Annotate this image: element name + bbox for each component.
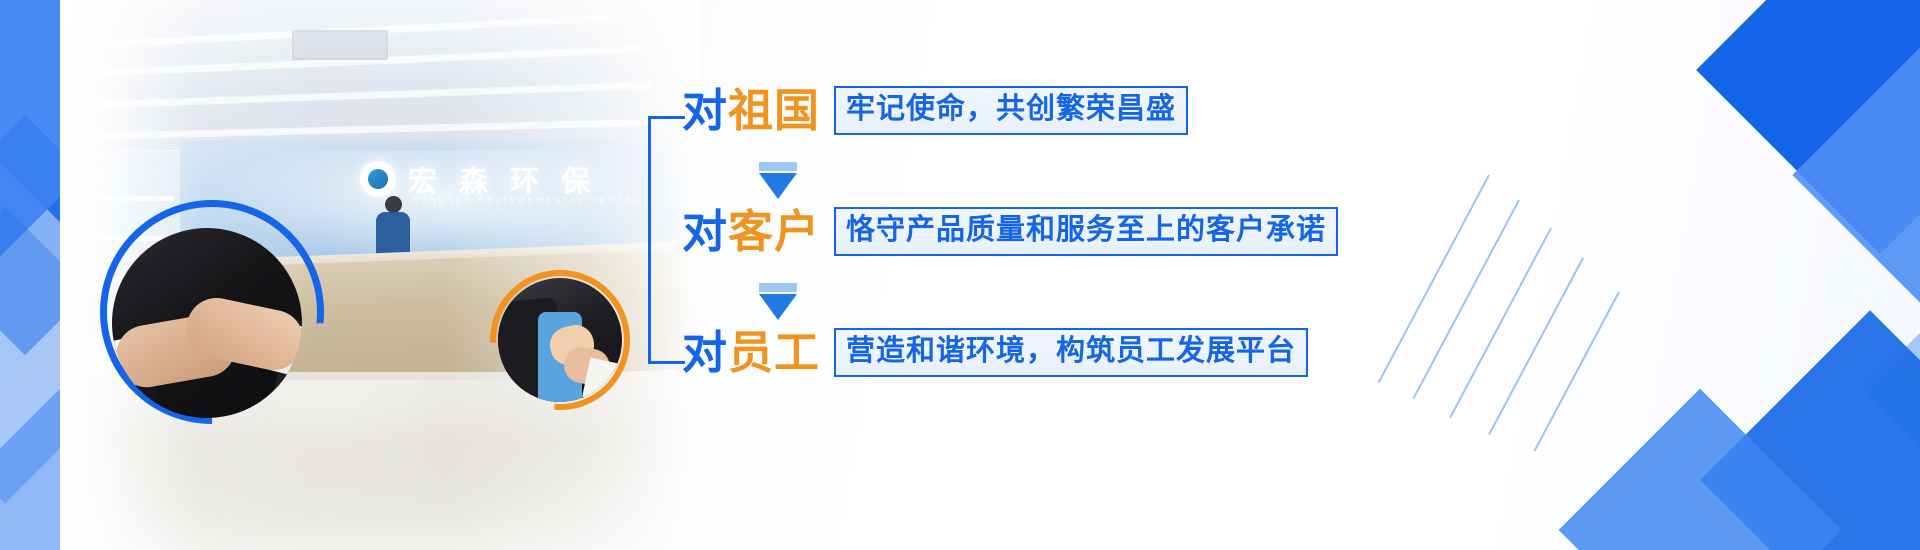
slogan-row-employee: 对员工 营造和谐环境，构筑员工发展平台 xyxy=(682,328,1308,377)
slogan-lead-nation: 对祖国 xyxy=(682,88,820,133)
slogan-lead-prefix: 对 xyxy=(682,206,728,257)
slogan-group: 对祖国 牢记使命，共创繁荣昌盛 对客户 恪守产品质量和服务至上的客户承诺 对员工… xyxy=(648,86,1348,386)
down-arrow-triangle xyxy=(759,294,797,320)
handshake-photo xyxy=(112,228,302,418)
down-arrow-cap xyxy=(759,162,797,171)
slogan-lead-keyword: 员工 xyxy=(728,327,820,378)
slogan-statement-customer: 恪守产品质量和服务至上的客户承诺 xyxy=(834,207,1338,256)
slogan-lead-customer: 对客户 xyxy=(682,209,820,254)
slogan-lead-keyword: 祖国 xyxy=(728,85,820,136)
slogan-statement-nation: 牢记使命，共创繁荣昌盛 xyxy=(834,86,1188,135)
slogan-lead-prefix: 对 xyxy=(682,327,728,378)
slogan-lead-keyword: 客户 xyxy=(728,206,820,257)
slogan-row-nation: 对祖国 牢记使命，共创繁荣昌盛 xyxy=(682,86,1188,135)
slogan-row-customer: 对客户 恪守产品质量和服务至上的客户承诺 xyxy=(682,207,1338,256)
slogan-statement-employee: 营造和谐环境，构筑员工发展平台 xyxy=(834,328,1308,377)
slogan-lead-employee: 对员工 xyxy=(682,330,820,375)
down-arrow-triangle xyxy=(759,173,797,199)
bracket-connector xyxy=(648,116,685,364)
down-arrow-cap xyxy=(759,283,797,292)
clapping-photo xyxy=(498,278,622,402)
promo-banner: 宏 森 环 保 HONGSEN ENVIRONMENTAL PROTECTION xyxy=(0,0,1920,550)
slogan-lead-prefix: 对 xyxy=(682,85,728,136)
